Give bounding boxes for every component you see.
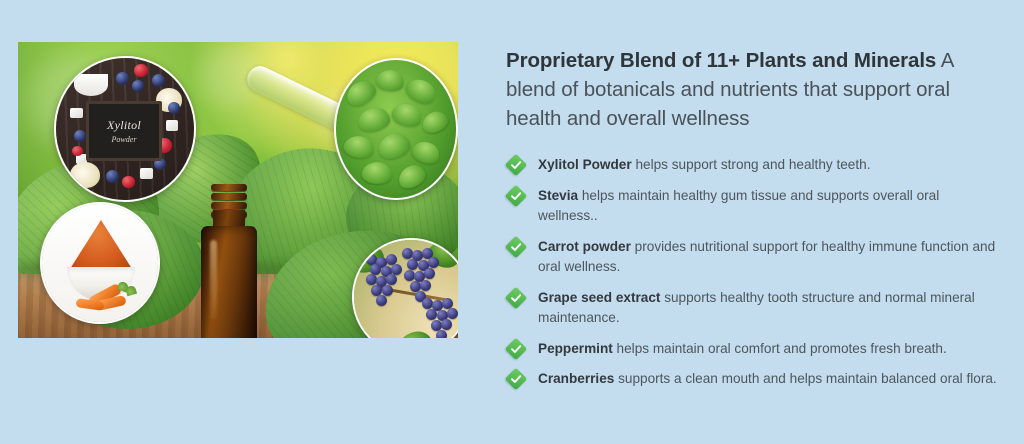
ingredients-panel: Xylitol Powder	[0, 0, 1024, 444]
chalkboard-subtitle: Powder	[112, 135, 137, 144]
check-diamond-icon	[505, 286, 528, 309]
benefit-term: Stevia	[538, 188, 578, 203]
stevia-leaves-inset	[334, 58, 458, 200]
benefit-term: Grape seed extract	[538, 290, 660, 305]
list-item: Grape seed extract supports healthy toot…	[506, 288, 1002, 329]
benefit-text: helps maintain oral comfort and promotes…	[613, 341, 947, 356]
list-item: Carrot powder provides nutritional suppo…	[506, 237, 1002, 278]
headline-lead: Proprietary Blend of 11+ Plants and Mine…	[506, 49, 936, 72]
benefit-text: helps support strong and healthy teeth.	[632, 157, 871, 172]
check-diamond-icon	[505, 368, 528, 391]
grapes-inset	[352, 238, 458, 338]
carrot-powder-inset	[40, 202, 160, 324]
xylitol-powder-inset: Xylitol Powder	[54, 56, 196, 202]
list-item: Cranberries supports a clean mouth and h…	[506, 369, 1002, 390]
check-diamond-icon	[505, 184, 528, 207]
page-title: Proprietary Blend of 11+ Plants and Mine…	[506, 46, 1002, 133]
benefits-list: Xylitol Powder helps support strong and …	[506, 155, 1002, 390]
chalkboard-title: Xylitol	[107, 118, 141, 133]
amber-oil-bottle	[201, 184, 257, 338]
check-diamond-icon	[505, 337, 528, 360]
product-photo: Xylitol Powder	[18, 42, 458, 338]
benefit-term: Cranberries	[538, 371, 614, 386]
check-diamond-icon	[505, 235, 528, 258]
list-item: Xylitol Powder helps support strong and …	[506, 155, 1002, 176]
list-item: Stevia helps maintain healthy gum tissue…	[506, 186, 1002, 227]
benefit-term: Xylitol Powder	[538, 157, 632, 172]
benefit-text: helps maintain healthy gum tissue and su…	[538, 188, 939, 224]
benefit-term: Peppermint	[538, 341, 613, 356]
check-diamond-icon	[505, 154, 528, 177]
benefit-term: Carrot powder	[538, 239, 631, 254]
ingredients-copy: Proprietary Blend of 11+ Plants and Mine…	[506, 46, 1002, 390]
benefit-text: supports a clean mouth and helps maintai…	[614, 371, 996, 386]
list-item: Peppermint helps maintain oral comfort a…	[506, 339, 1002, 360]
xylitol-chalkboard: Xylitol Powder	[86, 101, 162, 161]
